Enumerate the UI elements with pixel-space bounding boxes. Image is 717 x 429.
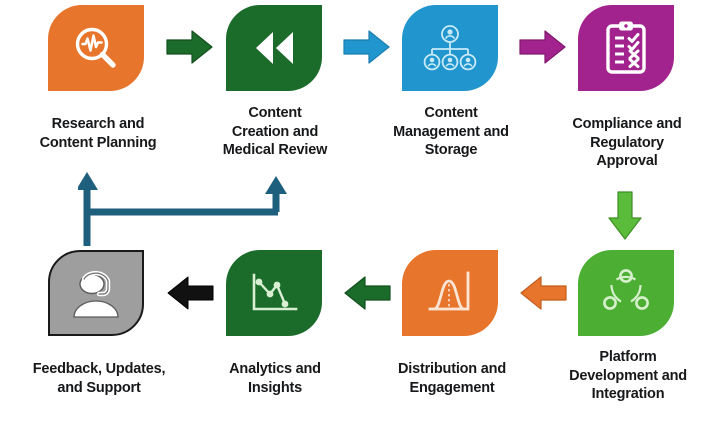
connector-arrow-content-creation-to-management	[342, 28, 392, 66]
step-tile-distribution-and-engagement[interactable]	[402, 250, 498, 336]
connector-arrow-distribution-to-analytics	[342, 274, 392, 312]
step-label-platform-development-and-integration: Platform Development and Integration	[552, 348, 704, 404]
bell-curve-icon	[422, 267, 478, 319]
step-label-content-creation-and-medical-review: Content Creation and Medical Review	[200, 104, 350, 160]
step-label-content-management-and-storage: Content Management and Storage	[375, 104, 527, 160]
step-label-compliance-and-regulatory-approval: Compliance and Regulatory Approval	[552, 115, 702, 171]
connector-arrow-analytics-to-feedback	[165, 274, 215, 312]
line-chart-icon	[246, 267, 302, 319]
share-network-icon	[599, 267, 653, 319]
step-label-research-and-content-planning: Research and Content Planning	[18, 115, 178, 152]
connector-feedback-loop	[78, 172, 308, 250]
connector-arrow-research-to-content-creation	[165, 28, 215, 66]
connector-arrow-compliance-to-platform	[605, 190, 645, 242]
step-tile-content-creation-and-medical-review[interactable]	[226, 5, 322, 91]
step-tile-content-management-and-storage[interactable]	[402, 5, 498, 91]
connector-arrow-platform-to-distribution	[518, 274, 568, 312]
step-tile-feedback-updates-and-support[interactable]	[48, 250, 144, 336]
rewind-icon	[247, 26, 301, 70]
org-chart-icon	[421, 23, 479, 73]
step-tile-compliance-and-regulatory-approval[interactable]	[578, 5, 674, 91]
step-label-distribution-and-engagement: Distribution and Engagement	[378, 360, 526, 397]
step-tile-platform-development-and-integration[interactable]	[578, 250, 674, 336]
clipboard-checklist-icon	[602, 20, 650, 76]
support-agent-icon	[66, 267, 126, 319]
magnifier-pulse-icon	[70, 22, 122, 74]
connector-arrow-management-to-compliance	[518, 28, 568, 66]
workflow-diagram: Research and Content Planning Content Cr…	[0, 0, 717, 429]
step-label-analytics-and-insights: Analytics and Insights	[205, 360, 345, 397]
step-label-feedback-updates-and-support: Feedback, Updates, and Support	[10, 360, 188, 397]
step-tile-analytics-and-insights[interactable]	[226, 250, 322, 336]
step-tile-research-and-content-planning[interactable]	[48, 5, 144, 91]
